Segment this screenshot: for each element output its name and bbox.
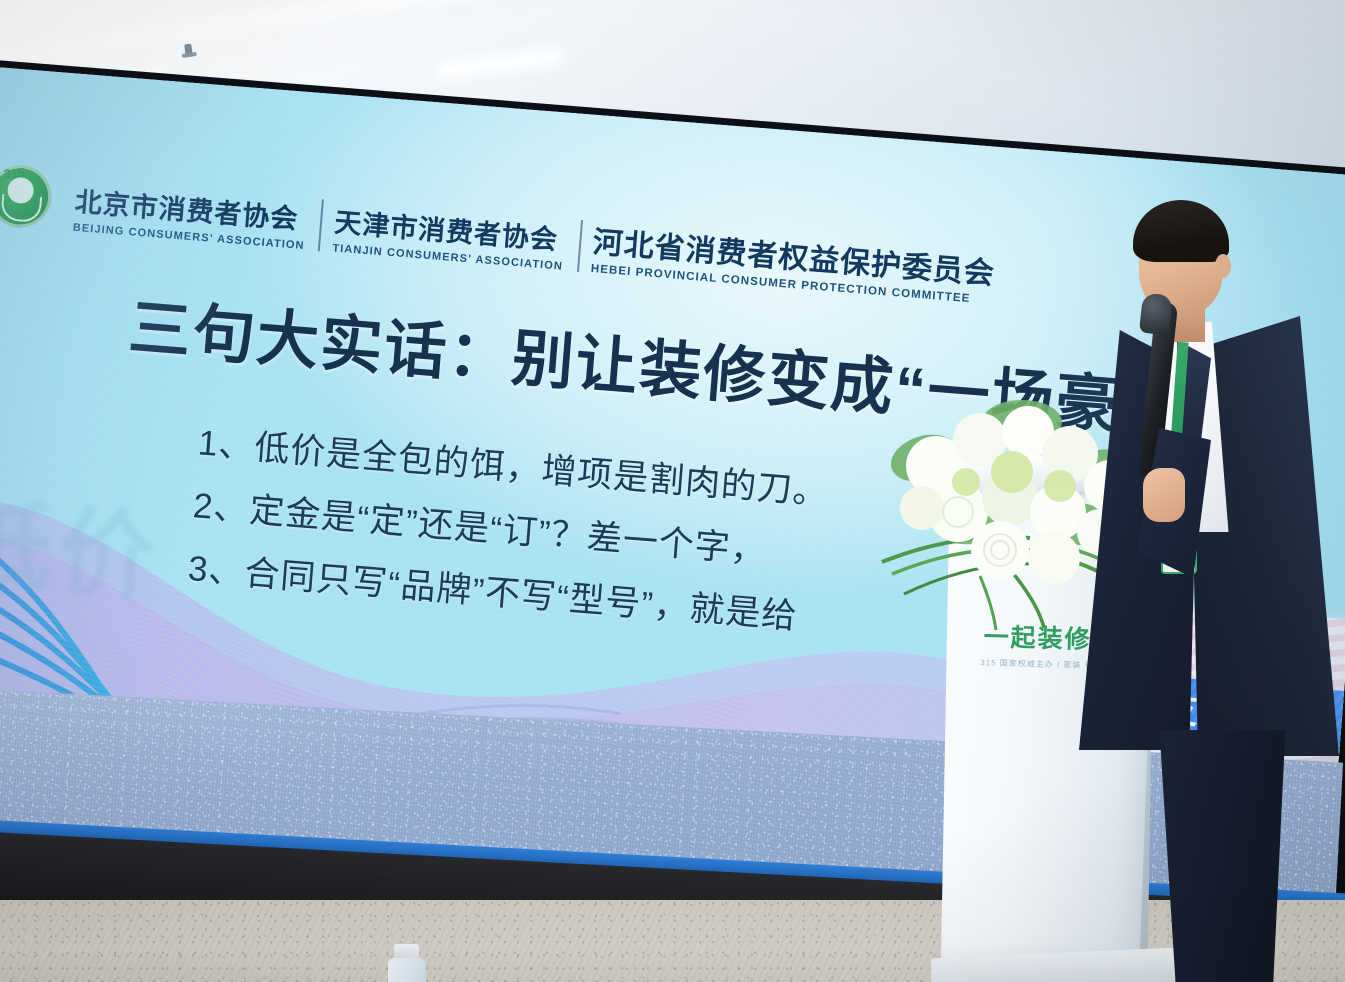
sprinkler-head-icon [184, 44, 193, 57]
speaker-trousers [1151, 730, 1291, 982]
speaker-person [1085, 190, 1345, 982]
speaker-hand [1143, 468, 1185, 522]
bottle-cap [394, 944, 419, 959]
bottle-body [388, 958, 426, 982]
water-bottle [385, 944, 429, 982]
speaker-hair [1133, 200, 1229, 262]
speaker-ear [1215, 254, 1231, 278]
microphone-icon [1139, 293, 1173, 336]
conference-photo-scene: 低价 315 北京市消费者协会 BEIJING CONSUMERS' ASSOC… [0, 0, 1345, 982]
